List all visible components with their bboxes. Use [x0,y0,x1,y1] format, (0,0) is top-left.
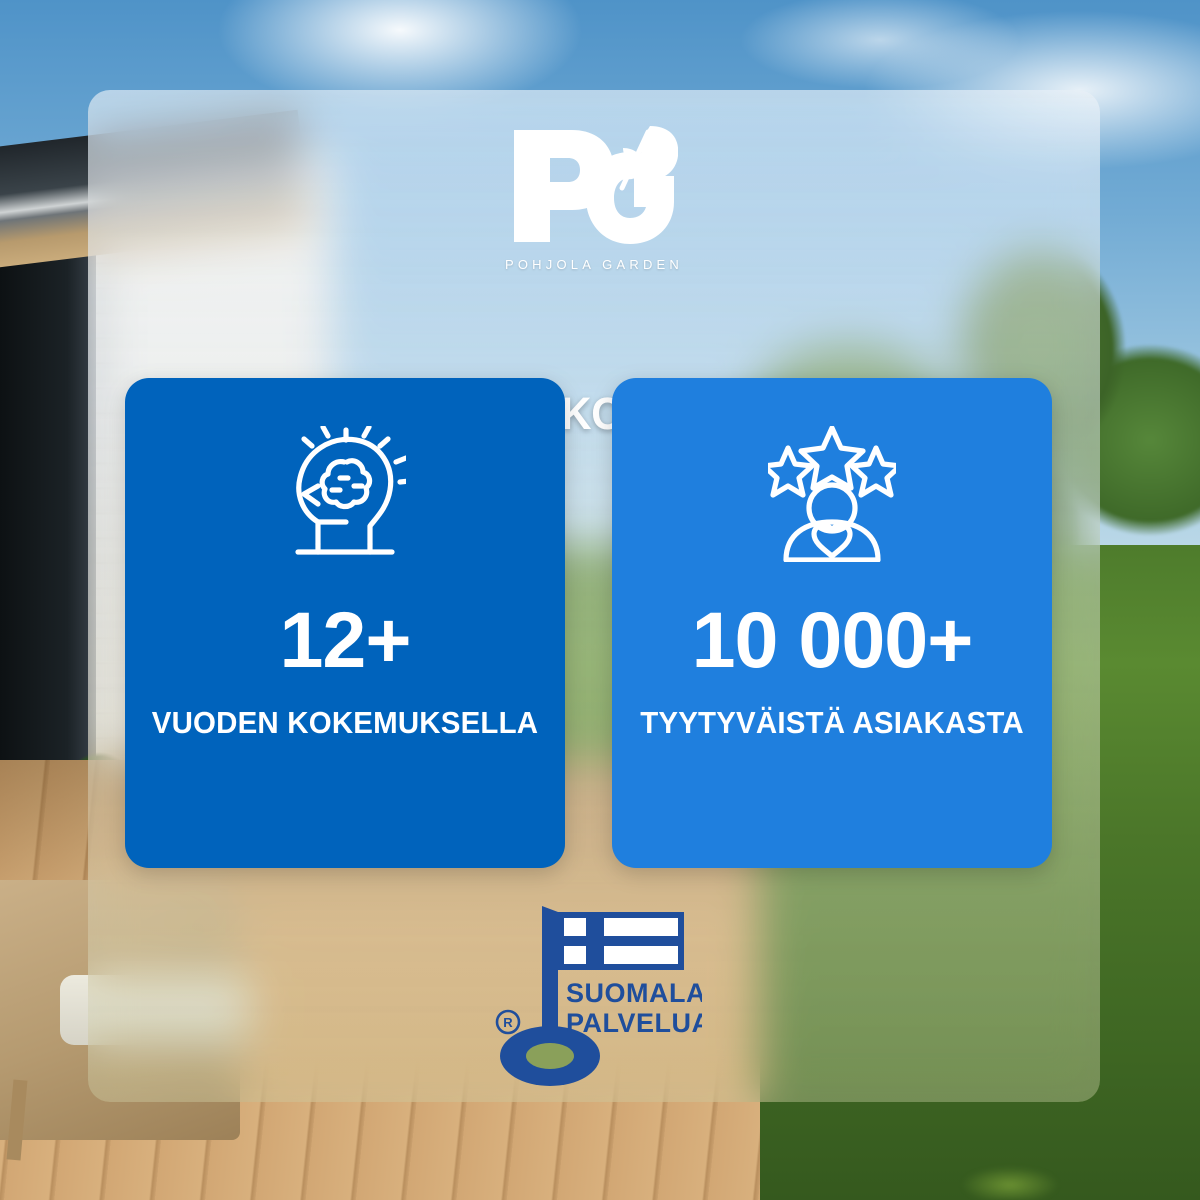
badge-line-2: PALVELUA [566,1008,702,1038]
house-door [0,215,96,775]
brand-logo: POHJOLA GARDEN [88,124,1100,272]
badge-line-1: SUOMALAISTA [566,978,702,1008]
stat-cards: 12+ VUODEN KOKEMUKSELLA 10 000+ TYYTYVÄI… [125,378,1063,868]
stat-label: VUODEN KOKEMUKSELLA [108,705,583,741]
stat-card-experience[interactable]: 12+ VUODEN KOKEMUKSELLA [125,378,565,868]
head-brain-idea-icon [125,426,565,562]
stat-label: TYYTYVÄISTÄ ASIAKASTA [595,705,1070,741]
pg-leaf-logo-icon [88,124,1100,248]
registered-mark: R [503,1015,513,1030]
stat-number: 10 000+ [602,600,1062,679]
stat-number: 12+ [115,600,575,679]
customer-stars-heart-icon [612,426,1052,562]
stat-card-customers[interactable]: 10 000+ TYYTYVÄISTÄ ASIAKASTA [612,378,1052,868]
brand-wordmark: POHJOLA GARDEN [88,257,1100,272]
promo-graphic: POHJOLA GARDEN KESTÄVÄ VALINTA KOTIMAISE… [0,0,1200,1200]
frosted-overlay-panel: POHJOLA GARDEN KESTÄVÄ VALINTA KOTIMAISE… [88,90,1100,1102]
avainlippu-key-flag-badge: R SUOMALAISTA PALVELUA [88,898,1100,1094]
